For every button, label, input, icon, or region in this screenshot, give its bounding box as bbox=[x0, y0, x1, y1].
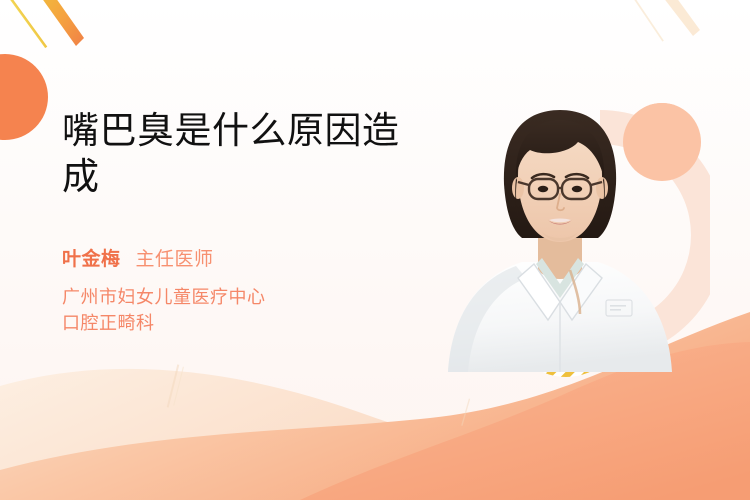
top-right-stripe-thin bbox=[630, 0, 664, 42]
top-left-stripe-thin bbox=[5, 0, 47, 48]
bottom-left-faint-line bbox=[167, 364, 184, 407]
doctor-portrait bbox=[430, 92, 690, 372]
top-right-stripe-group bbox=[630, 0, 700, 42]
wave-back bbox=[0, 369, 750, 500]
top-right-stripe-thick bbox=[659, 0, 700, 36]
department-name: 口腔正畸科 bbox=[62, 310, 422, 336]
doctor-line: 叶金梅 主任医师 bbox=[62, 244, 422, 271]
eye-left bbox=[538, 186, 548, 192]
top-left-stripe-group bbox=[5, 0, 84, 48]
hospital-block: 广州市妇女儿童医疗中心 口腔正畸科 bbox=[62, 284, 422, 336]
bottom-mid-faint-lines bbox=[461, 399, 470, 426]
text-block: 嘴巴臭是什么原因造成 叶金梅 主任医师 广州市妇女儿童医疗中心 口腔正畸科 bbox=[62, 108, 422, 336]
top-left-orange-circle bbox=[0, 54, 48, 140]
top-left-stripe-thick bbox=[36, 0, 84, 46]
doctor-name: 叶金梅 bbox=[62, 244, 121, 271]
hospital-name: 广州市妇女儿童医疗中心 bbox=[62, 284, 422, 310]
doctor-title: 主任医师 bbox=[136, 244, 214, 271]
page-title: 嘴巴臭是什么原因造成 bbox=[62, 108, 422, 200]
doctor-portrait-illustration bbox=[430, 92, 690, 372]
doctor-info-card: 嘴巴臭是什么原因造成 叶金梅 主任医师 广州市妇女儿童医疗中心 口腔正畸科 bbox=[0, 0, 750, 500]
ear-left bbox=[512, 177, 524, 199]
eye-right bbox=[572, 186, 582, 192]
ear-right bbox=[596, 177, 608, 199]
